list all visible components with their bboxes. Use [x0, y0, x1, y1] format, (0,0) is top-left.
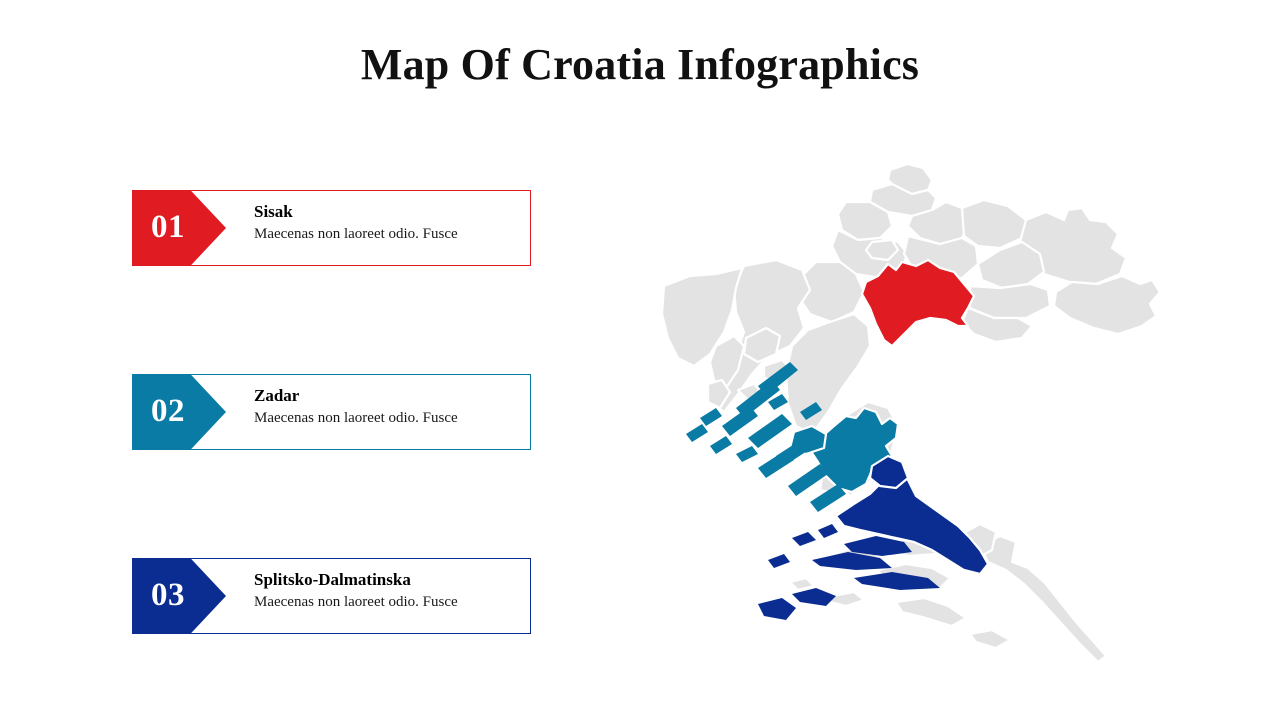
card-number-badge-02: 02 [132, 374, 226, 450]
info-card-01[interactable]: 01 Sisak Maecenas non laoreet odio. Fusc… [132, 190, 531, 266]
region-vukovarsko-srijemska [1054, 276, 1160, 334]
card-text-block-03: Splitsko-Dalmatinska Maecenas non laoree… [254, 569, 523, 613]
slide-canvas: Map Of Croatia Infographics 01 Sisak Mae… [0, 0, 1280, 720]
card-number-02: 02 [151, 393, 185, 430]
card-number-03: 03 [151, 577, 185, 614]
region-mljet-island [896, 598, 966, 626]
card-description-01: Maecenas non laoreet odio. Fusce [254, 225, 523, 245]
region-viroviticko-podravska [962, 200, 1026, 248]
card-description-02: Maecenas non laoreet odio. Fusce [254, 409, 523, 429]
region-lastovo-island [830, 592, 864, 606]
card-description-03: Maecenas non laoreet odio. Fusce [254, 593, 523, 613]
region-south-islet-b [790, 578, 814, 590]
info-card-03[interactable]: 03 Splitsko-Dalmatinska Maecenas non lao… [132, 558, 531, 634]
card-title-03: Splitsko-Dalmatinska [254, 569, 523, 590]
region-south-islet-a [970, 630, 1010, 648]
card-title-02: Zadar [254, 385, 523, 406]
region-pozesko-slavonska [978, 242, 1044, 288]
info-card-list: 01 Sisak Maecenas non laoreet odio. Fusc… [132, 190, 532, 634]
card-number-badge-01: 01 [132, 190, 226, 266]
info-card-02[interactable]: 02 Zadar Maecenas non laoreet odio. Fusc… [132, 374, 531, 450]
croatia-map [640, 150, 1185, 675]
card-text-block-02: Zadar Maecenas non laoreet odio. Fusce [254, 385, 523, 429]
page-title: Map Of Croatia Infographics [0, 40, 1280, 91]
croatia-map-svg [640, 150, 1185, 675]
card-number-badge-03: 03 [132, 558, 226, 634]
card-title-01: Sisak [254, 201, 523, 222]
card-text-block-01: Sisak Maecenas non laoreet odio. Fusce [254, 201, 523, 245]
card-number-01: 01 [151, 209, 185, 246]
